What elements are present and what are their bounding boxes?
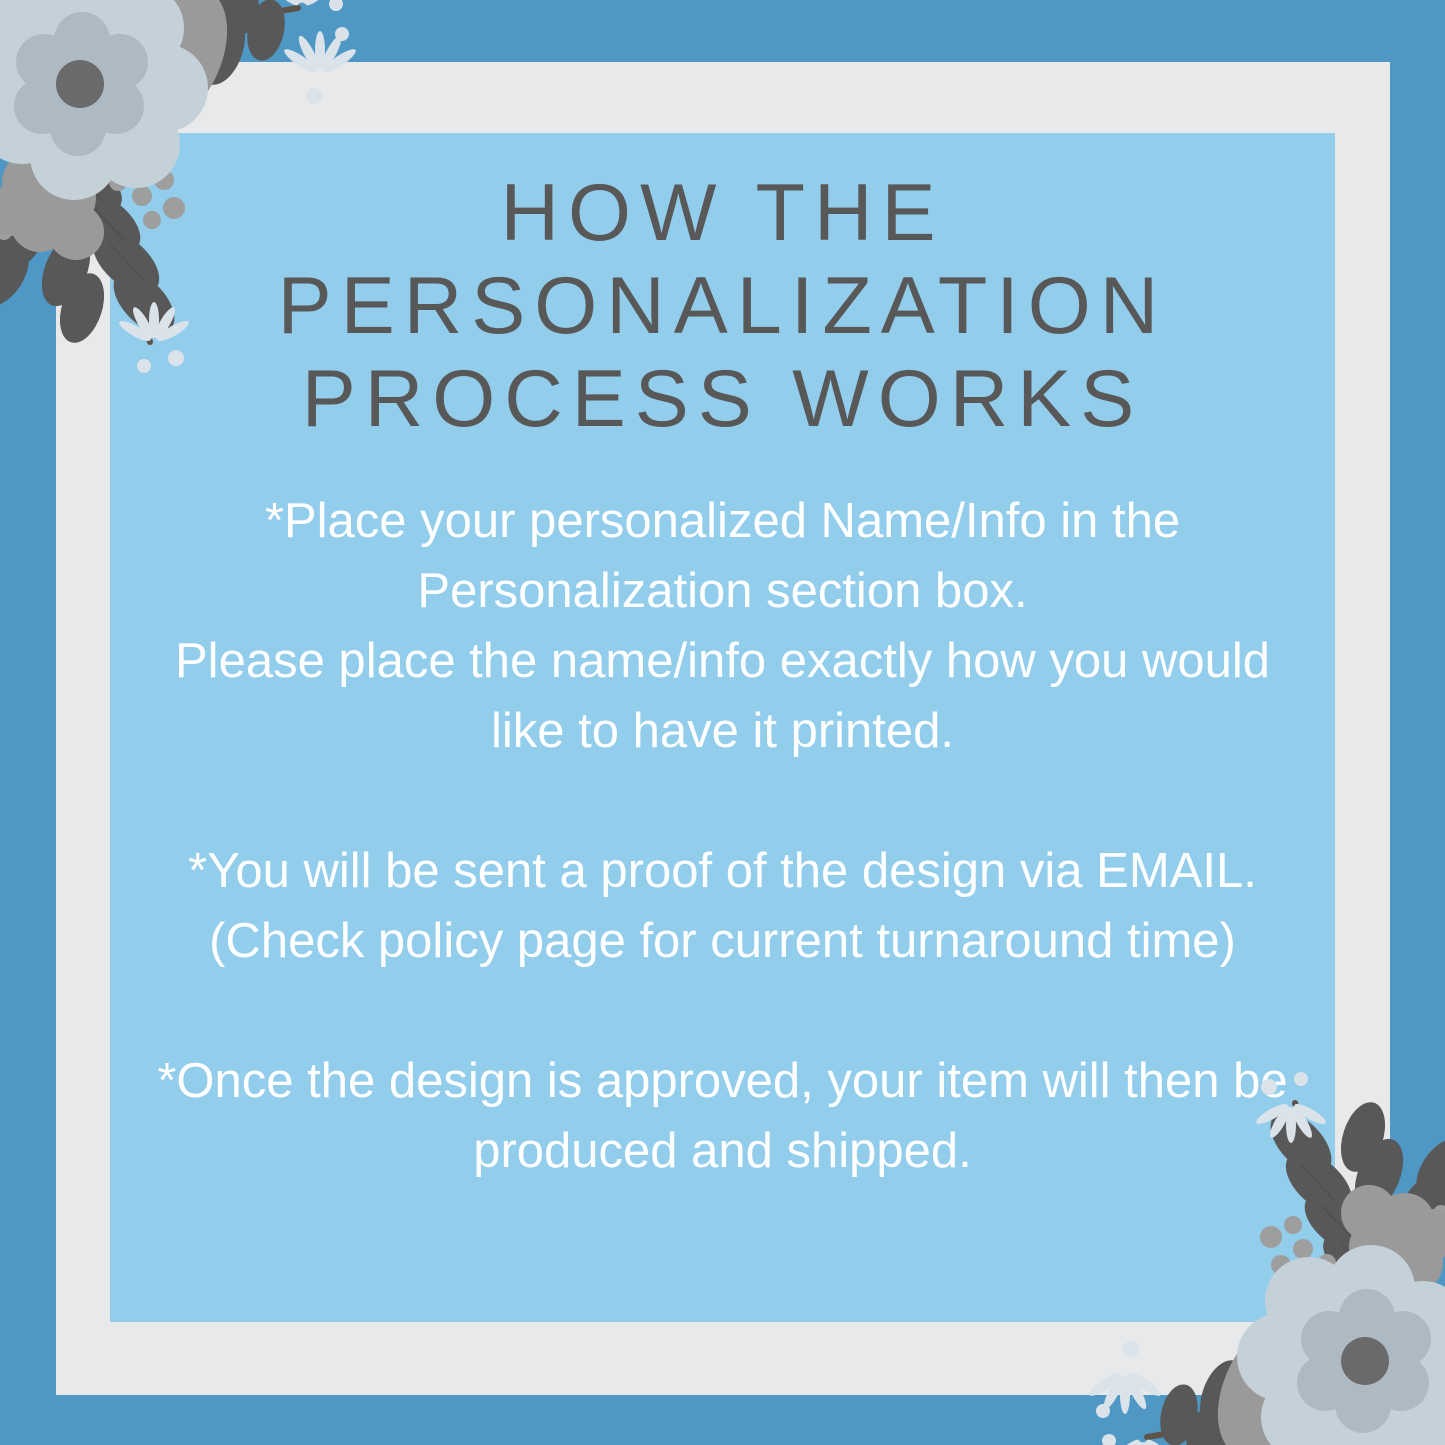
poster-canvas: HOW THE PERSONALIZATION PROCESS WORKS *P… xyxy=(0,0,1445,1445)
instructions-body: *Place your personalized Name/Info in th… xyxy=(110,446,1335,1186)
poster-content: HOW THE PERSONALIZATION PROCESS WORKS *P… xyxy=(110,133,1335,1322)
page-title: HOW THE PERSONALIZATION PROCESS WORKS xyxy=(110,133,1335,446)
